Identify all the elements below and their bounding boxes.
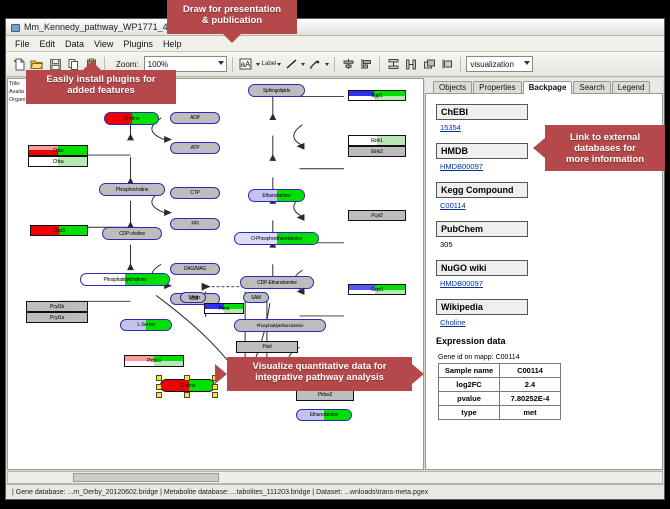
new-file-icon[interactable] bbox=[11, 56, 27, 72]
node-gene-pemt[interactable]: Pemt bbox=[204, 303, 244, 314]
db-header-chebi: ChEBI bbox=[436, 104, 528, 120]
zoom-value: 100% bbox=[148, 60, 168, 69]
table-row: pvalue 7.80252E-4 bbox=[439, 392, 561, 406]
node-phosphocholine[interactable]: Phosphocholine bbox=[99, 183, 165, 196]
line-icon[interactable] bbox=[283, 56, 299, 72]
expression-table: Sample name C00114 log2FC 2.4 pvalue 7.8… bbox=[438, 363, 561, 420]
node-label: Pcyt2 bbox=[371, 213, 383, 219]
selection-handle-n[interactable] bbox=[184, 375, 190, 381]
menu-item-file[interactable]: File bbox=[10, 39, 35, 49]
expr-key: pvalue bbox=[439, 392, 500, 406]
selection-handle-sw[interactable] bbox=[156, 392, 162, 398]
node-label: PPi bbox=[191, 221, 198, 227]
expr-value: C00114 bbox=[500, 364, 561, 378]
callout-visualize-arrow bbox=[215, 364, 227, 384]
node-label: Cept1 bbox=[371, 287, 383, 293]
node-cdp-ethanolamine[interactable]: CDP-Ethanolamine bbox=[240, 276, 314, 289]
node-label: CDP-Ethanolamine bbox=[257, 280, 297, 286]
tab-properties[interactable]: Properties bbox=[473, 81, 521, 93]
node-phosphatidylethanolamine[interactable]: Phosphatidylethanolamine bbox=[234, 319, 326, 332]
distribute-horizontal-icon[interactable] bbox=[403, 56, 419, 72]
svg-text:aA: aA bbox=[241, 60, 251, 69]
callout-draw: Draw for presentation & publication bbox=[167, 0, 297, 34]
node-label: Ethanolamine bbox=[310, 412, 338, 418]
node-label: Ptdss1 bbox=[147, 358, 161, 364]
node-label: DAG/MAG bbox=[184, 266, 206, 272]
visualization-combobox[interactable]: visualization bbox=[466, 56, 533, 72]
node-gene-pcyt1a[interactable]: Pcyt1a bbox=[26, 312, 88, 323]
node-label: L-Serine bbox=[137, 322, 154, 328]
scrollbar-thumb[interactable] bbox=[73, 473, 219, 482]
node-l-serine-left[interactable]: L-Serine bbox=[120, 319, 172, 331]
selection-handle-nw[interactable] bbox=[156, 375, 162, 381]
node-label: Pcyt1a bbox=[50, 315, 64, 321]
visualization-chevron-icon bbox=[524, 61, 530, 65]
node-o-phosphoethanolamine[interactable]: O-Phosphoethanolamine bbox=[234, 232, 319, 245]
zoom-label: Zoom: bbox=[116, 60, 139, 69]
node-ctp[interactable]: CTP bbox=[170, 187, 220, 199]
node-sphingolipids[interactable]: Sphingolipids bbox=[248, 84, 305, 97]
menu-item-view[interactable]: View bbox=[89, 39, 118, 49]
gene-id-line: Gene id on mapp: C00114 bbox=[438, 354, 652, 361]
toolbar-separator-5 bbox=[460, 57, 461, 72]
node-label: Chkb bbox=[53, 148, 64, 154]
status-bar: | Gene database: ...m_Derby_20120602.bri… bbox=[6, 484, 664, 499]
node-gene-sgpl1[interactable]: Sgpl1 bbox=[348, 90, 406, 101]
table-row: type met bbox=[439, 406, 561, 420]
visualization-value: visualization bbox=[470, 60, 514, 69]
toolbar-separator-4 bbox=[379, 57, 380, 72]
toolbar-separator-2 bbox=[232, 57, 233, 72]
selection-handle-se[interactable] bbox=[212, 392, 218, 398]
callout-visualize-arrow-right bbox=[412, 364, 424, 384]
node-label: Etnk2 bbox=[371, 149, 383, 155]
node-label: Pcyt1b bbox=[50, 304, 64, 310]
chevron-down-icon bbox=[218, 61, 224, 65]
node-adp[interactable]: ADP bbox=[170, 112, 220, 124]
callout-link: Link to external databases for more info… bbox=[545, 125, 665, 171]
node-label: Ptdss2 bbox=[318, 392, 332, 398]
node-gene-pcyt1b[interactable]: Pcyt1b bbox=[26, 301, 88, 312]
callout-plugins-line2: added features bbox=[32, 85, 170, 96]
db-header-nugo: NuGO wiki bbox=[436, 260, 528, 276]
node-label: Pemt bbox=[219, 306, 230, 312]
node-label: ATP bbox=[191, 145, 200, 151]
table-row: log2FC 2.4 bbox=[439, 378, 561, 392]
table-row: Sample name C00114 bbox=[439, 364, 561, 378]
tab-legend[interactable]: Legend bbox=[612, 81, 651, 93]
db-header-wikipedia: Wikipedia bbox=[436, 299, 528, 315]
node-gene-cept1[interactable]: Cept1 bbox=[348, 284, 406, 295]
node-ppi[interactable]: PPi bbox=[170, 218, 220, 230]
callout-link-arrow bbox=[533, 138, 545, 158]
expr-value: met bbox=[500, 406, 561, 420]
callout-plugins-line1: Easily install plugins for bbox=[32, 74, 170, 85]
db-link-kegg[interactable]: C00114 bbox=[440, 201, 652, 210]
node-ethanolamine-bottom[interactable]: Ethanolamine bbox=[296, 409, 352, 421]
app-icon bbox=[10, 22, 20, 32]
menu-item-data[interactable]: Data bbox=[60, 39, 89, 49]
label-tool[interactable]: Label bbox=[262, 61, 282, 67]
db-header-pubchem: PubChem bbox=[436, 221, 528, 237]
callout-visualize: Visualize quantitative data for integrat… bbox=[227, 357, 412, 391]
db-link-wikipedia[interactable]: Choline bbox=[440, 318, 652, 327]
node-gene-etnk2[interactable]: Etnk2 bbox=[348, 146, 406, 157]
value-quad-blue bbox=[349, 91, 374, 96]
node-label: Chka bbox=[53, 159, 64, 165]
title-bar: Mm_Kennedy_pathway_WP1771_45176.gpml bbox=[6, 19, 664, 36]
node-label: Choline bbox=[180, 383, 196, 389]
align-left-icon[interactable] bbox=[358, 56, 374, 72]
node-label: Phosphatidylcholines bbox=[104, 277, 147, 283]
node-gene-pcyt2[interactable]: Pcyt2 bbox=[348, 210, 406, 221]
selection-handle-w[interactable] bbox=[156, 384, 162, 390]
node-phosphatidylcholines[interactable]: Phosphatidylcholines bbox=[80, 273, 170, 286]
callout-plugins: Easily install plugins for added feature… bbox=[26, 70, 176, 104]
node-label: Phosphatidylethanolamine bbox=[257, 323, 304, 328]
expr-value: 2.4 bbox=[500, 378, 561, 392]
db-value-pubchem: 305 bbox=[440, 240, 652, 249]
send-to-back-icon[interactable] bbox=[439, 56, 455, 72]
side-panel-tabs: Objects Properties Backpage Search Legen… bbox=[425, 78, 663, 94]
expression-data-heading: Expression data bbox=[436, 336, 652, 346]
node-label: ADP bbox=[190, 115, 200, 121]
node-ethanolamine[interactable]: Ethanolamine bbox=[248, 189, 305, 202]
db-header-hmdb: HMDB bbox=[436, 143, 528, 159]
node-choline-top[interactable]: Choline bbox=[104, 112, 159, 125]
bring-to-front-icon[interactable] bbox=[421, 56, 437, 72]
callout-visualize-line2: integrative pathway analysis bbox=[233, 372, 406, 383]
node-label: Sgpl1 bbox=[371, 93, 383, 99]
arrow-shape-icon[interactable] bbox=[307, 56, 323, 72]
tab-objects[interactable]: Objects bbox=[433, 81, 472, 93]
node-label: SAH bbox=[188, 295, 198, 301]
pathway-canvas[interactable]: Title: Availa Organi bbox=[7, 78, 424, 470]
callout-link-line3: more information bbox=[551, 154, 659, 165]
distribute-vertical-icon[interactable] bbox=[385, 56, 401, 72]
node-gene-chkb[interactable]: Chkb bbox=[28, 145, 88, 156]
selection-handle-e[interactable] bbox=[212, 384, 218, 390]
toolbar-separator-3 bbox=[334, 57, 335, 72]
expr-key: type bbox=[439, 406, 500, 420]
menu-item-plugins[interactable]: Plugins bbox=[118, 39, 158, 49]
callout-draw-arrow bbox=[223, 34, 241, 43]
callout-visualize-line1: Visualize quantitative data for bbox=[233, 361, 406, 372]
arrow-dropdown-caret[interactable] bbox=[325, 63, 329, 66]
node-label: Pisd bbox=[263, 344, 272, 350]
menu-item-edit[interactable]: Edit bbox=[35, 39, 61, 49]
node-label: Ethanolamine bbox=[262, 193, 290, 199]
node-label: Etnk1 bbox=[371, 138, 383, 144]
node-atp[interactable]: ATP bbox=[170, 142, 220, 154]
node-label: O-Phosphoethanolamine bbox=[251, 236, 302, 242]
node-label: Chpt1 bbox=[53, 228, 65, 234]
selection-handle-s[interactable] bbox=[184, 392, 190, 398]
node-gene-pisd[interactable]: Pisd bbox=[236, 341, 298, 353]
expr-key: Sample name bbox=[439, 364, 500, 378]
node-label: CDP-choline bbox=[119, 231, 145, 237]
menu-item-help[interactable]: Help bbox=[158, 39, 187, 49]
node-label: Phosphocholine bbox=[116, 187, 149, 193]
expr-key: log2FC bbox=[439, 378, 500, 392]
node-label: CTP bbox=[190, 190, 199, 196]
callout-link-line1: Link to external bbox=[551, 132, 659, 143]
node-label: SAM bbox=[251, 295, 261, 301]
label-dropdown-caret-2[interactable] bbox=[277, 63, 281, 66]
callout-draw-line2: & publication bbox=[173, 15, 291, 26]
db-header-kegg: Kegg Compound bbox=[436, 182, 528, 198]
tab-search[interactable]: Search bbox=[573, 81, 610, 93]
label-dropdown-caret-1[interactable] bbox=[256, 63, 260, 66]
node-gene-ptdss1[interactable]: Ptdss1 bbox=[124, 355, 184, 367]
align-center-icon[interactable] bbox=[340, 56, 356, 72]
status-bar-text: | Gene database: ...m_Derby_20120602.bri… bbox=[12, 489, 428, 496]
callout-draw-line1: Draw for presentation bbox=[173, 4, 291, 15]
label-tool-text: Label bbox=[262, 61, 277, 67]
callout-plugins-arrow bbox=[83, 61, 101, 70]
node-cdp-choline[interactable]: CDP-choline bbox=[102, 227, 162, 240]
node-label: Choline bbox=[124, 116, 140, 122]
node-gene-chka[interactable]: Chka bbox=[28, 156, 88, 167]
menu-bar: File Edit Data View Plugins Help bbox=[6, 36, 664, 52]
node-label: Sphingolipids bbox=[263, 88, 290, 94]
callout-link-line2: databases for bbox=[551, 143, 659, 154]
node-sam[interactable]: SAM bbox=[243, 292, 269, 303]
node-dagmag[interactable]: DAG/MAG bbox=[170, 263, 220, 275]
expr-value: 7.80252E-4 bbox=[500, 392, 561, 406]
node-gene-chpt1[interactable]: Chpt1 bbox=[30, 225, 88, 236]
node-gene-etnk1[interactable]: Etnk1 bbox=[348, 135, 406, 146]
line-dropdown-caret[interactable] bbox=[301, 63, 305, 66]
db-link-nugo[interactable]: HMDB00097 bbox=[440, 279, 652, 288]
horizontal-scrollbar[interactable] bbox=[7, 471, 663, 484]
tab-backpage[interactable]: Backpage bbox=[523, 81, 573, 94]
text-label-icon[interactable]: aA bbox=[238, 56, 254, 72]
